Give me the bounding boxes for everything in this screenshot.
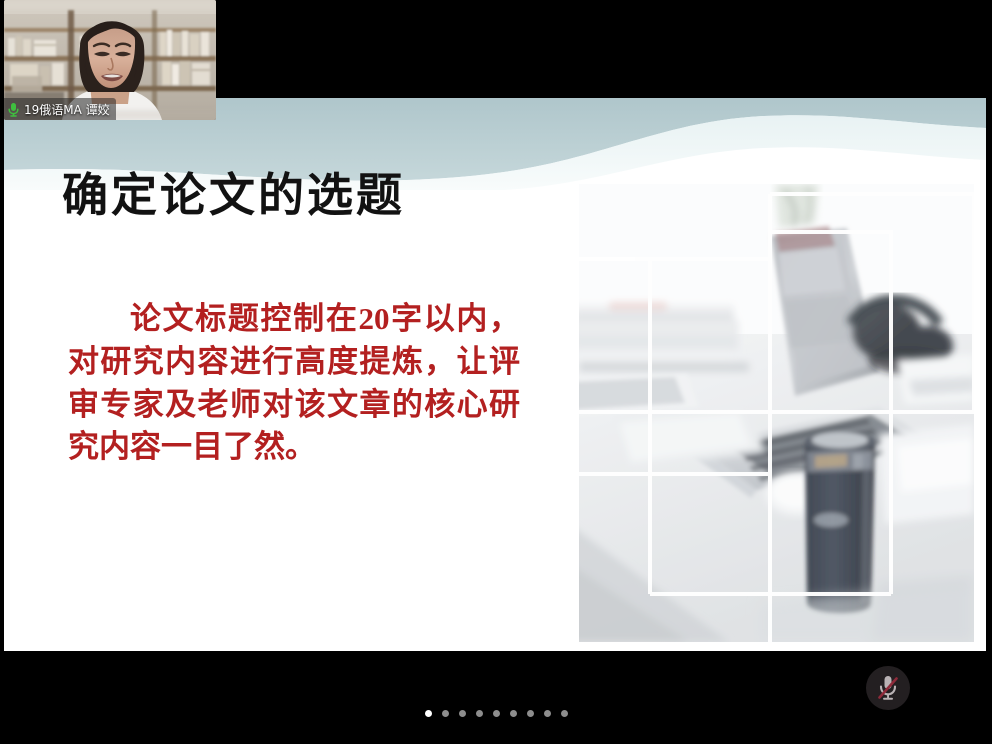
presentation-slide: 确定论文的选题 论文标题控制在20字以内，对研究内容进行高度提炼，让评审专家及老… bbox=[4, 98, 986, 651]
mic-mute-button[interactable] bbox=[866, 666, 910, 710]
pagination-dot[interactable] bbox=[510, 710, 517, 717]
pagination-dot[interactable] bbox=[544, 710, 551, 717]
screen-share-viewer: 确定论文的选题 论文标题控制在20字以内，对研究内容进行高度提炼，让评审专家及老… bbox=[0, 0, 992, 744]
pagination-dot[interactable] bbox=[561, 710, 568, 717]
participant-video-tile[interactable]: 19俄语MA 谭姣 bbox=[4, 0, 216, 120]
slide-pagination-dots[interactable] bbox=[0, 710, 992, 717]
participant-name-bar: 19俄语MA 谭姣 bbox=[4, 98, 116, 120]
slide-title: 确定论文的选题 bbox=[62, 170, 405, 223]
pagination-dot[interactable] bbox=[476, 710, 483, 717]
participant-name-label: 19俄语MA 谭姣 bbox=[24, 101, 110, 118]
pagination-dot[interactable] bbox=[493, 710, 500, 717]
pagination-dot[interactable] bbox=[425, 710, 432, 717]
mic-muted-icon bbox=[875, 673, 901, 703]
microphone-active-icon bbox=[7, 102, 20, 117]
pagination-dot[interactable] bbox=[527, 710, 534, 717]
pagination-dot[interactable] bbox=[459, 710, 466, 717]
pagination-dot[interactable] bbox=[442, 710, 449, 717]
slide-photo-collage bbox=[579, 184, 974, 642]
slide-body-text: 论文标题控制在20字以内，对研究内容进行高度提炼，让评审专家及老师对该文章的核心… bbox=[68, 298, 520, 469]
